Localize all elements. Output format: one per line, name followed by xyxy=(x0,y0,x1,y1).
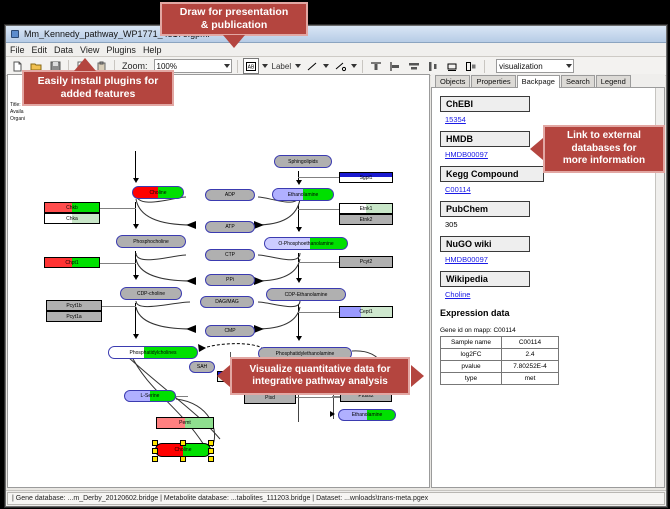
node-cdp-choline[interactable]: CDP-choline xyxy=(120,287,182,300)
arrowhead xyxy=(133,178,139,183)
callout-visualize-pointer-right xyxy=(411,365,424,387)
callout-visualize: Visualize quantitative data for integrat… xyxy=(230,357,410,395)
callout-visualize-line2: integrative pathway analysis xyxy=(250,376,391,389)
callout-draw-line2: & publication xyxy=(180,19,289,32)
callout-visualize-pointer xyxy=(217,365,230,387)
cell-value: 2.4 xyxy=(502,349,559,361)
selection-handle-nw[interactable] xyxy=(152,440,158,446)
node-label: ATP xyxy=(225,224,234,230)
callout-plugins: Easily install plugins for added feature… xyxy=(22,70,174,106)
legend-line-available: Availa xyxy=(10,109,24,116)
node-pcyt2[interactable]: Pcyt2 xyxy=(339,256,393,268)
node-chpt1[interactable]: Chpt1 xyxy=(44,257,100,268)
node-ethanolamine[interactable]: Ethanolamine xyxy=(272,188,334,201)
section-header-hmdb: HMDB xyxy=(440,131,530,147)
callout-plugins-line2: added features xyxy=(38,88,159,101)
cofactor-curve-ctp-ppi xyxy=(134,253,214,287)
svg-text:AB: AB xyxy=(247,64,254,70)
node-chkb[interactable]: Chkb xyxy=(44,202,100,213)
tab-backpage[interactable]: Backpage xyxy=(517,75,560,88)
callout-links-line1: Link to external xyxy=(563,130,645,143)
link-wikipedia[interactable]: Choline xyxy=(445,290,656,299)
node-label: Phosphatidylcholines xyxy=(130,350,177,356)
selection-handle-n[interactable] xyxy=(180,440,186,446)
visualization-value: visualization xyxy=(499,62,543,71)
toolbar-separator xyxy=(362,60,363,73)
selection-handle-ne[interactable] xyxy=(208,440,214,446)
menu-item-plugins[interactable]: Plugins xyxy=(106,45,136,55)
node-cmp[interactable]: CMP xyxy=(205,325,255,337)
menu-item-data[interactable]: Data xyxy=(54,45,73,55)
node-sah[interactable]: SAH xyxy=(189,361,215,373)
cell-key: type xyxy=(441,373,502,385)
node-choline-top[interactable]: Choline xyxy=(132,186,184,199)
node-adp[interactable]: ADP xyxy=(205,189,255,201)
node-label: Chkb xyxy=(66,205,78,211)
link-nugo-wiki[interactable]: HMDB00097 xyxy=(445,255,656,264)
cell-key: pvalue xyxy=(441,361,502,373)
tab-search[interactable]: Search xyxy=(561,75,595,87)
section-header-wikipedia: Wikipedia xyxy=(440,271,530,287)
node-label: Pcyt1b xyxy=(66,303,81,309)
node-dag-mag[interactable]: DAG/MAG xyxy=(200,296,254,308)
connector-chk xyxy=(100,208,136,209)
toolbar-separator xyxy=(484,60,485,73)
node-cdp-ethanolamine[interactable]: CDP-Ethanolamine xyxy=(266,288,346,301)
stack-center-icon[interactable] xyxy=(444,58,460,74)
screenshot-root: Mm_Kennedy_pathway_WP1771_45176.gpml Fil… xyxy=(0,0,670,509)
table-row: pvalue 7.80252E-4 xyxy=(441,361,559,373)
node-label: DAG/MAG xyxy=(215,299,239,305)
callout-draw-line1: Draw for presentation xyxy=(180,6,289,19)
arrowhead-right xyxy=(330,411,335,417)
group-icon[interactable] xyxy=(463,58,479,74)
node-label: L-Serine xyxy=(141,393,160,399)
table-row: type met xyxy=(441,373,559,385)
cell-value: C00114 xyxy=(502,337,559,349)
node-label: Pemt xyxy=(179,420,191,426)
node-o-phosphoethanolamine[interactable]: O-Phosphoethanolamine xyxy=(264,237,348,250)
node-label: Phosphocholine xyxy=(133,239,169,245)
expression-table: Sample name C00114 log2FC 2.4 pvalue 7.8… xyxy=(440,336,559,385)
node-label: Chka xyxy=(66,216,78,222)
edge-choline-down xyxy=(135,151,136,180)
node-sphingolipids[interactable]: Sphingolipids xyxy=(274,155,332,168)
callout-draw-pointer xyxy=(223,35,245,48)
align-top-icon[interactable] xyxy=(368,58,384,74)
connector-lserine-left xyxy=(176,396,188,397)
connector-etnk xyxy=(298,209,340,210)
menu-item-edit[interactable]: Edit xyxy=(32,45,48,55)
cell-value: 7.80252E-4 xyxy=(502,361,559,373)
callout-plugins-pointer xyxy=(74,58,96,71)
align-rows-icon[interactable] xyxy=(406,58,422,74)
legend-line-organism: Organi xyxy=(10,116,25,123)
selection-handle-e[interactable] xyxy=(208,448,214,454)
node-phosphocholine[interactable]: Phosphocholine xyxy=(116,235,186,248)
link-kegg-compound[interactable]: C00114 xyxy=(445,185,656,194)
app-icon xyxy=(10,29,20,39)
selection-handle-se[interactable] xyxy=(208,456,214,462)
gene-id-line: Gene id on mapp: C00114 xyxy=(440,327,656,334)
cofactor-curve-right-dag-cmp xyxy=(256,301,302,335)
expression-data-heading: Expression data xyxy=(440,308,656,318)
node-etnk2[interactable]: Etnk2 xyxy=(339,214,393,225)
selection-handle-w[interactable] xyxy=(152,448,158,454)
node-atp[interactable]: ATP xyxy=(205,221,255,233)
node-label: CTP xyxy=(225,252,235,258)
selection-handle-s[interactable] xyxy=(180,456,186,462)
connector-pcyt1 xyxy=(102,306,136,307)
label-dropdown-icon[interactable] xyxy=(295,64,301,68)
cell-value: met xyxy=(502,373,559,385)
table-row: Sample name C00114 xyxy=(441,337,559,349)
section-header-pubchem: PubChem xyxy=(440,201,530,217)
node-phosphatidylcholines[interactable]: Phosphatidylcholines xyxy=(108,346,198,359)
node-ethanolamine-bottom[interactable]: Ethanolamine xyxy=(338,409,396,421)
menu-item-view[interactable]: View xyxy=(80,45,99,55)
node-label: Chpt1 xyxy=(65,260,78,266)
node-cept1[interactable]: Cept1 xyxy=(339,306,393,318)
node-sgpl1[interactable]: Sgpl1 xyxy=(339,172,393,183)
label-tool-label[interactable]: Label xyxy=(272,62,292,71)
interaction-tool-icon[interactable] xyxy=(332,58,348,74)
section-header-kegg-compound: Kegg Compound xyxy=(440,166,544,182)
toolbar-separator xyxy=(237,60,238,73)
line-dropdown-icon[interactable] xyxy=(323,64,329,68)
callout-visualize-line1: Visualize quantitative data for xyxy=(250,364,391,377)
shape-tool-icon[interactable]: AB xyxy=(243,58,259,74)
visualization-combobox[interactable]: visualization xyxy=(496,59,574,73)
node-label: Etnk1 xyxy=(360,206,373,212)
interaction-dropdown-icon[interactable] xyxy=(351,64,357,68)
value-pubchem: 305 xyxy=(445,220,656,229)
node-label: Pcyt1a xyxy=(66,314,81,320)
tab-objects[interactable]: Objects xyxy=(435,75,470,87)
node-label: CMP xyxy=(224,328,235,334)
node-label: Pcyt2 xyxy=(360,259,373,265)
node-label: Sgpl1 xyxy=(360,175,373,181)
arrowhead xyxy=(296,180,302,185)
callout-plugins-line1: Easily install plugins for xyxy=(38,75,159,88)
connector-pisd xyxy=(296,397,342,398)
callout-draw: Draw for presentation & publication xyxy=(160,2,308,36)
pathway-canvas[interactable]: Title: Availa Organi xyxy=(7,74,430,488)
cell-key: Sample name xyxy=(441,337,502,349)
node-label: CDP-Ethanolamine xyxy=(285,292,328,298)
node-label: Cept1 xyxy=(359,309,372,315)
node-label: PPi xyxy=(226,277,234,283)
table-row: log2FC 2.4 xyxy=(441,349,559,361)
node-pemt-left[interactable]: Pemt xyxy=(156,417,214,429)
connector-sgpl1 xyxy=(298,177,340,178)
node-label: O-Phosphoethanolamine xyxy=(278,241,333,247)
node-chka[interactable]: Chka xyxy=(44,213,100,224)
shape-dropdown-icon[interactable] xyxy=(262,64,268,68)
side-panel-tabs: Objects Properties Backpage Search Legen… xyxy=(431,74,665,88)
node-l-serine-left[interactable]: L-Serine xyxy=(124,390,176,402)
node-label: Pisd xyxy=(265,395,275,401)
menu-item-help[interactable]: Help xyxy=(143,45,162,55)
chevron-down-icon xyxy=(224,64,230,68)
cell-key: log2FC xyxy=(441,349,502,361)
legend-line-title: Title: xyxy=(10,102,21,109)
node-pcyt1b[interactable]: Pcyt1b xyxy=(46,300,102,311)
align-columns-icon[interactable] xyxy=(425,58,441,74)
status-bar: | Gene database: ...m_Derby_20120602.bri… xyxy=(6,490,666,506)
tab-legend[interactable]: Legend xyxy=(596,75,631,87)
callout-links-pointer xyxy=(530,138,543,160)
node-label: Ethanolamine xyxy=(352,412,383,418)
node-ppi[interactable]: PPi xyxy=(205,274,255,286)
section-header-chebi: ChEBI xyxy=(440,96,530,112)
align-left-icon[interactable] xyxy=(387,58,403,74)
node-etnk1[interactable]: Etnk1 xyxy=(339,203,393,214)
node-label: Choline xyxy=(175,447,192,453)
line-tool-icon[interactable] xyxy=(304,58,320,74)
cofactor-curve-right-ctp-ppi xyxy=(256,253,302,287)
chevron-down-icon xyxy=(566,64,572,68)
node-label: Sphingolipids xyxy=(288,159,318,165)
node-label: CDP-choline xyxy=(137,291,165,297)
arrowhead xyxy=(296,336,302,341)
connector-cept1 xyxy=(298,312,340,313)
connector-pcyt2 xyxy=(298,262,340,263)
node-label: Phosphatidylethanolamine xyxy=(276,351,335,357)
status-databases: | Gene database: ...m_Derby_20120602.bri… xyxy=(7,492,665,505)
node-pcyt1a[interactable]: Pcyt1a xyxy=(46,311,102,322)
callout-links: Link to external databases for more info… xyxy=(543,125,665,173)
connector-chpt1 xyxy=(100,263,136,264)
node-ctp[interactable]: CTP xyxy=(205,249,255,261)
link-chebi[interactable]: 15354 xyxy=(445,115,656,124)
node-label: ADP xyxy=(225,192,235,198)
section-header-nugo-wiki: NuGO wiki xyxy=(440,236,530,252)
callout-links-line2: databases for xyxy=(563,143,645,156)
menubar: File Edit Data View Plugins Help xyxy=(6,43,666,57)
node-label: Ethanolamine xyxy=(288,192,319,198)
node-label: Etnk2 xyxy=(360,217,373,223)
tab-properties[interactable]: Properties xyxy=(471,75,515,87)
node-label: Choline xyxy=(150,190,167,196)
node-label: SAH xyxy=(197,364,207,370)
window-titlebar: Mm_Kennedy_pathway_WP1771_45176.gpml xyxy=(6,26,666,43)
menu-item-file[interactable]: File xyxy=(10,45,25,55)
selection-handle-sw[interactable] xyxy=(152,456,158,462)
callout-links-line3: more information xyxy=(563,155,645,168)
